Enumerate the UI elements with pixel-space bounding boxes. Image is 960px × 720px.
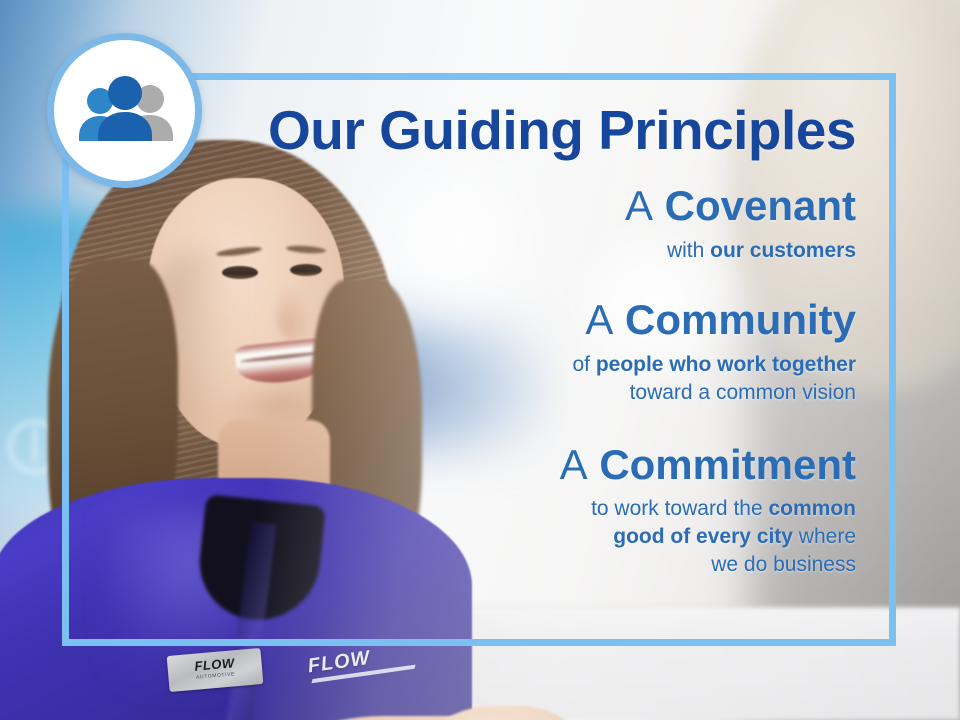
principle-subtext: of people who work together toward a com… (62, 351, 856, 406)
principle-subtext: to work toward the common good of every … (62, 495, 856, 578)
principle-subtext-line: toward a common vision (62, 379, 856, 407)
subtext-run-bold: common (768, 497, 856, 520)
principle-noun: Covenant (665, 182, 856, 229)
principle-subtext-line: to work toward the common (62, 495, 856, 523)
principle-article: A (625, 182, 653, 229)
subtext-run: where (793, 525, 856, 548)
text-content-area: Our Guiding Principles A Covenant with o… (62, 73, 896, 646)
principle-heading: A Covenant (62, 184, 856, 228)
subtext-run-bold: people who work together (596, 353, 856, 376)
principle-subtext-line: good of every city where (62, 523, 856, 551)
principle-block: A Covenant with our customers (62, 184, 856, 264)
subtext-run: toward a common vision (630, 381, 856, 404)
people-group-icon (71, 75, 179, 147)
principle-article: A (585, 296, 613, 343)
people-group-badge (47, 33, 202, 188)
principle-subtext-line: we do business (62, 551, 856, 579)
principle-subtext: with our customers (62, 237, 856, 265)
principle-noun: Commitment (599, 441, 856, 488)
subtext-run: we do business (711, 553, 856, 576)
subtext-run-bold: our customers (710, 239, 856, 262)
principle-subtext-line: of people who work together (62, 351, 856, 379)
principle-block: A Commitment to work toward the common g… (62, 443, 856, 579)
principle-heading: A Community (62, 298, 856, 342)
principle-noun: Community (625, 296, 856, 343)
principle-subtext-line: with our customers (62, 237, 856, 265)
principle-article: A (560, 441, 588, 488)
guiding-principles-graphic: FLOW AUTOMOTIVE FLOW Our Guiding Princip… (0, 0, 960, 720)
subtext-run: to work toward the (591, 497, 768, 520)
principle-heading: A Commitment (62, 443, 856, 487)
subtext-run: of (572, 353, 595, 376)
principle-block: A Community of people who work together … (62, 298, 856, 406)
subtext-run-bold: good of every city (613, 525, 793, 548)
subtext-run: with (667, 239, 710, 262)
